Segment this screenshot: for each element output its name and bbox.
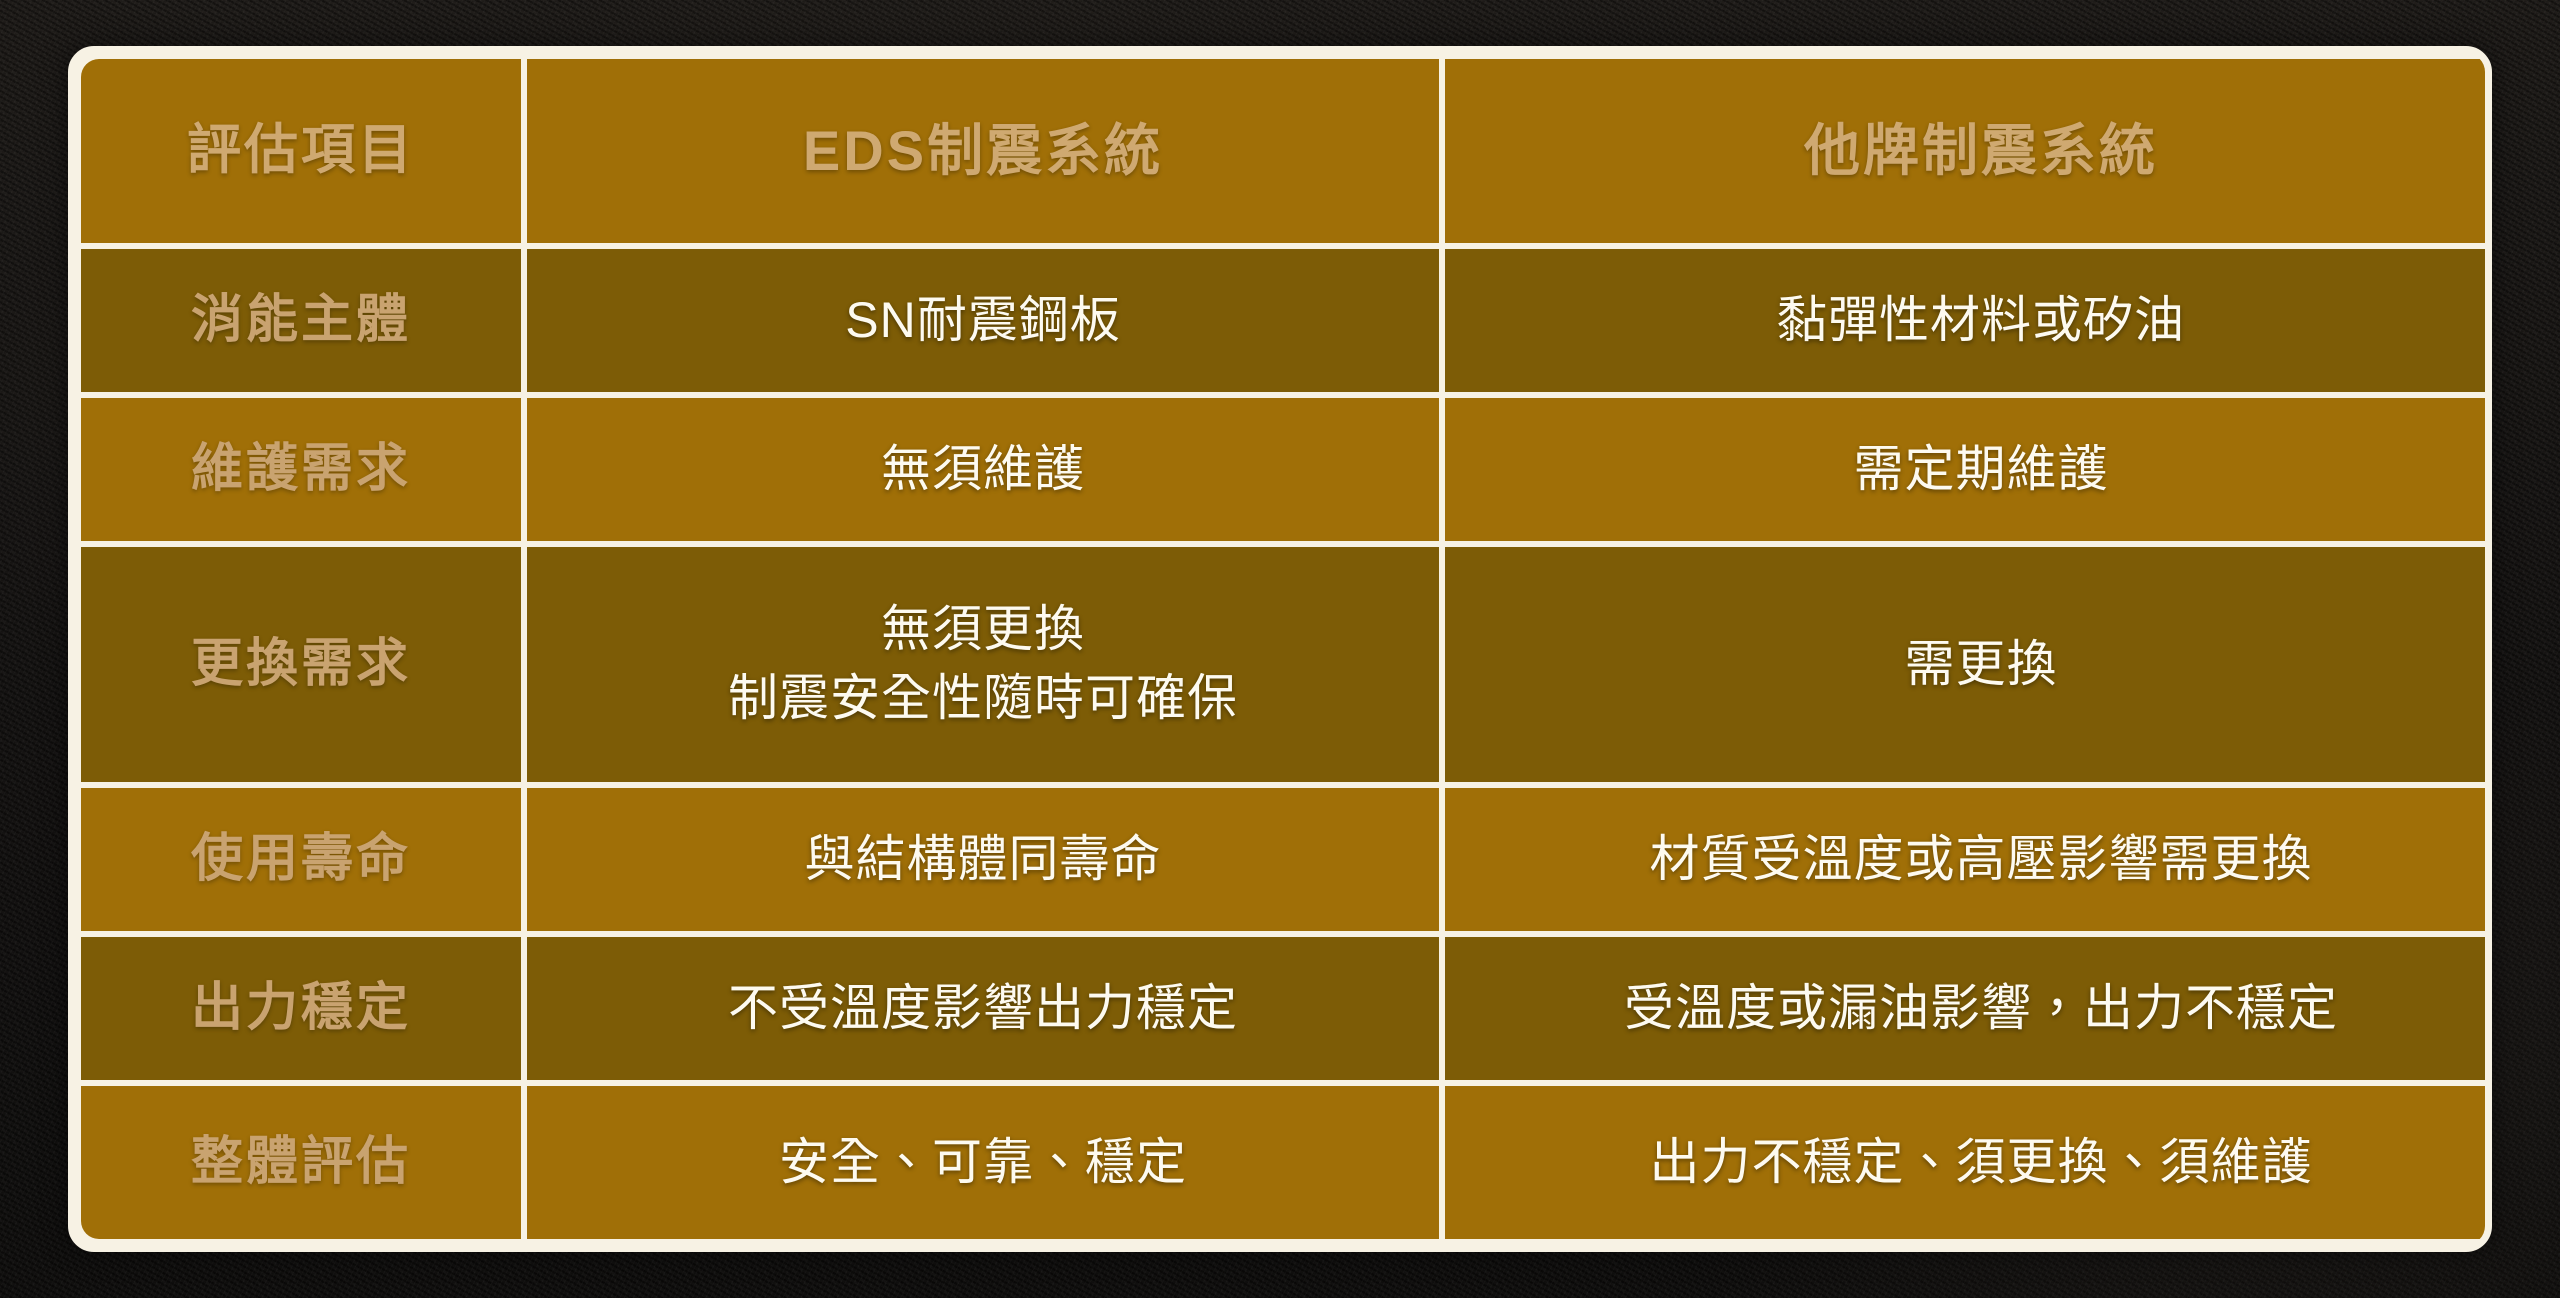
table-row: 消能主體 SN耐震鋼板 黏彈性材料或矽油	[81, 249, 2492, 392]
table-row: 出力穩定 不受溫度影響出力穩定 受溫度或漏油影響，出力不穩定	[81, 937, 2492, 1080]
comparison-table: 評估項目 EDS制震系統 他牌制震系統 消能主體 SN耐震鋼板 黏彈性材料或矽油…	[75, 53, 2492, 1245]
row-label-maintenance: 維護需求	[81, 398, 521, 541]
header-cell-eds-system: EDS制震系統	[527, 59, 1439, 243]
row-label-damping-element: 消能主體	[81, 249, 521, 392]
cell-other-overall-evaluation: 出力不穩定、須更換、須維護	[1445, 1086, 2492, 1239]
cell-eds-replacement: 無須更換 制震安全性隨時可確保	[527, 547, 1439, 782]
table-row: 整體評估 安全、可靠、穩定 出力不穩定、須更換、須維護	[81, 1086, 2492, 1239]
cell-eds-maintenance: 無須維護	[527, 398, 1439, 541]
cell-other-replacement: 需更換	[1445, 547, 2492, 782]
comparison-table-container: 評估項目 EDS制震系統 他牌制震系統 消能主體 SN耐震鋼板 黏彈性材料或矽油…	[68, 46, 2492, 1252]
table-body: 消能主體 SN耐震鋼板 黏彈性材料或矽油 維護需求 無須維護 需定期維護 更換需…	[81, 249, 2492, 1239]
cell-line: 安全、可靠、穩定	[541, 1132, 1425, 1193]
table-row: 維護需求 無須維護 需定期維護	[81, 398, 2492, 541]
cell-line: SN耐震鋼板	[541, 290, 1425, 351]
row-label-output-stability: 出力穩定	[81, 937, 521, 1080]
cell-other-service-life: 材質受溫度或高壓影響需更換	[1445, 788, 2492, 931]
row-label-replacement: 更換需求	[81, 547, 521, 782]
header-row: 評估項目 EDS制震系統 他牌制震系統	[81, 59, 2492, 243]
cell-eds-output-stability: 不受溫度影響出力穩定	[527, 937, 1439, 1080]
cell-eds-damping-element: SN耐震鋼板	[527, 249, 1439, 392]
cell-line: 材質受溫度或高壓影響需更換	[1459, 829, 2492, 890]
cell-line: 需定期維護	[1459, 439, 2492, 500]
cell-line: 制震安全性隨時可確保	[541, 668, 1425, 729]
row-label-overall-evaluation: 整體評估	[81, 1086, 521, 1239]
header-cell-criteria: 評估項目	[81, 59, 521, 243]
cell-line: 黏彈性材料或矽油	[1459, 290, 2492, 351]
cell-line: 無須更換	[541, 599, 1425, 660]
cell-line: 無須維護	[541, 439, 1425, 500]
header-cell-other-system: 他牌制震系統	[1445, 59, 2492, 243]
cell-line: 受溫度或漏油影響，出力不穩定	[1459, 978, 2492, 1039]
cell-eds-overall-evaluation: 安全、可靠、穩定	[527, 1086, 1439, 1239]
cell-other-output-stability: 受溫度或漏油影響，出力不穩定	[1445, 937, 2492, 1080]
cell-line: 需更換	[1459, 634, 2492, 695]
cell-line: 不受溫度影響出力穩定	[541, 978, 1425, 1039]
table-row: 更換需求 無須更換 制震安全性隨時可確保 需更換	[81, 547, 2492, 782]
cell-eds-service-life: 與結構體同壽命	[527, 788, 1439, 931]
cell-line: 與結構體同壽命	[541, 829, 1425, 890]
cell-line: 出力不穩定、須更換、須維護	[1459, 1132, 2492, 1193]
table-header: 評估項目 EDS制震系統 他牌制震系統	[81, 59, 2492, 243]
row-label-service-life: 使用壽命	[81, 788, 521, 931]
cell-other-maintenance: 需定期維護	[1445, 398, 2492, 541]
cell-other-damping-element: 黏彈性材料或矽油	[1445, 249, 2492, 392]
table-row: 使用壽命 與結構體同壽命 材質受溫度或高壓影響需更換	[81, 788, 2492, 931]
